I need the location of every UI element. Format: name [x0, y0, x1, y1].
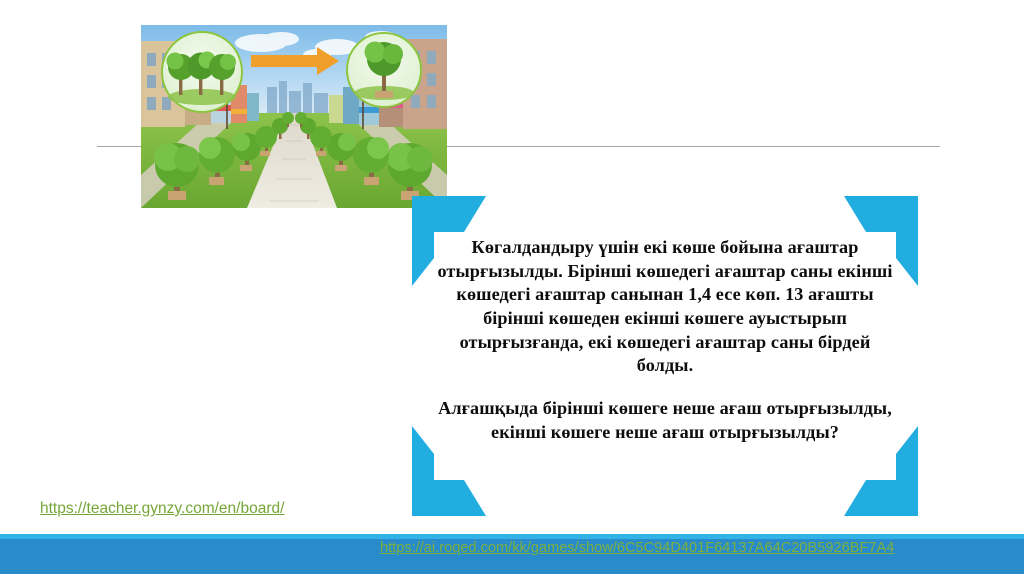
problem-frame: Көгалдандыру үшін екі көше бойына ағашта…: [412, 196, 918, 516]
problem-statement-paragraph: Көгалдандыру үшін екі көше бойына ағашта…: [430, 236, 900, 378]
roqed-game-link[interactable]: https://ai.roqed.com/kk/games/show/6C5C9…: [380, 540, 894, 556]
one-tree-inset: [347, 33, 421, 107]
teacher-gynzy-link[interactable]: https://teacher.gynzy.com/en/board/: [40, 500, 284, 518]
tree-lined-street-illustration: [141, 25, 447, 208]
problem-text-body: Көгалдандыру үшін екі көше бойына ағашта…: [430, 236, 900, 444]
slide-canvas: Көгалдандыру үшін екі көше бойына ағашта…: [0, 0, 1024, 574]
bottom-bar-stripe: [0, 534, 1024, 539]
problem-question-paragraph: Алғашқыда бірінші көшеге неше ағаш отырғ…: [430, 397, 900, 444]
three-trees-inset: [162, 32, 242, 112]
